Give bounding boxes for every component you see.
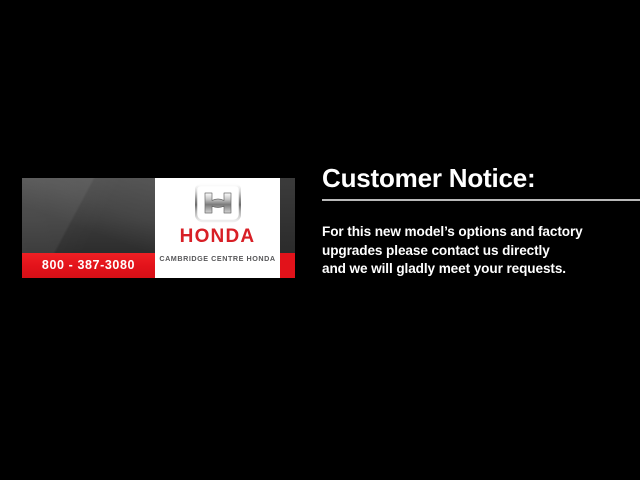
- banner-right-dark-strip: [280, 178, 295, 253]
- notice-body-line-3: and we will gladly meet your requests.: [322, 260, 640, 279]
- notice-body-line-2: upgrades please contact us directly: [322, 242, 640, 261]
- notice-body-line-1: For this new model’s options and factory: [322, 223, 640, 242]
- customer-notice-block: Customer Notice: For this new model’s op…: [322, 163, 640, 279]
- honda-wordmark: HONDA: [155, 226, 280, 248]
- banner-right-red-strip: [280, 253, 295, 278]
- dealer-banner: 227 Hespeler Rd Cambridge, ON N1R 3H8 80…: [22, 178, 295, 278]
- notice-divider: [322, 199, 640, 201]
- dealer-tagline: CAMBRIDGE CENTRE HONDA: [155, 254, 280, 263]
- honda-h-emblem-icon: [195, 182, 241, 224]
- notice-title: Customer Notice:: [322, 163, 640, 193]
- phone-bar: 800 - 387-3080: [22, 253, 155, 278]
- banner-logo-panel: HONDA CAMBRIDGE CENTRE HONDA: [155, 178, 280, 278]
- notice-body: For this new model’s options and factory…: [322, 223, 640, 279]
- slide-canvas: 227 Hespeler Rd Cambridge, ON N1R 3H8 80…: [0, 0, 640, 480]
- dealer-phone-number: 800 - 387-3080: [22, 258, 155, 272]
